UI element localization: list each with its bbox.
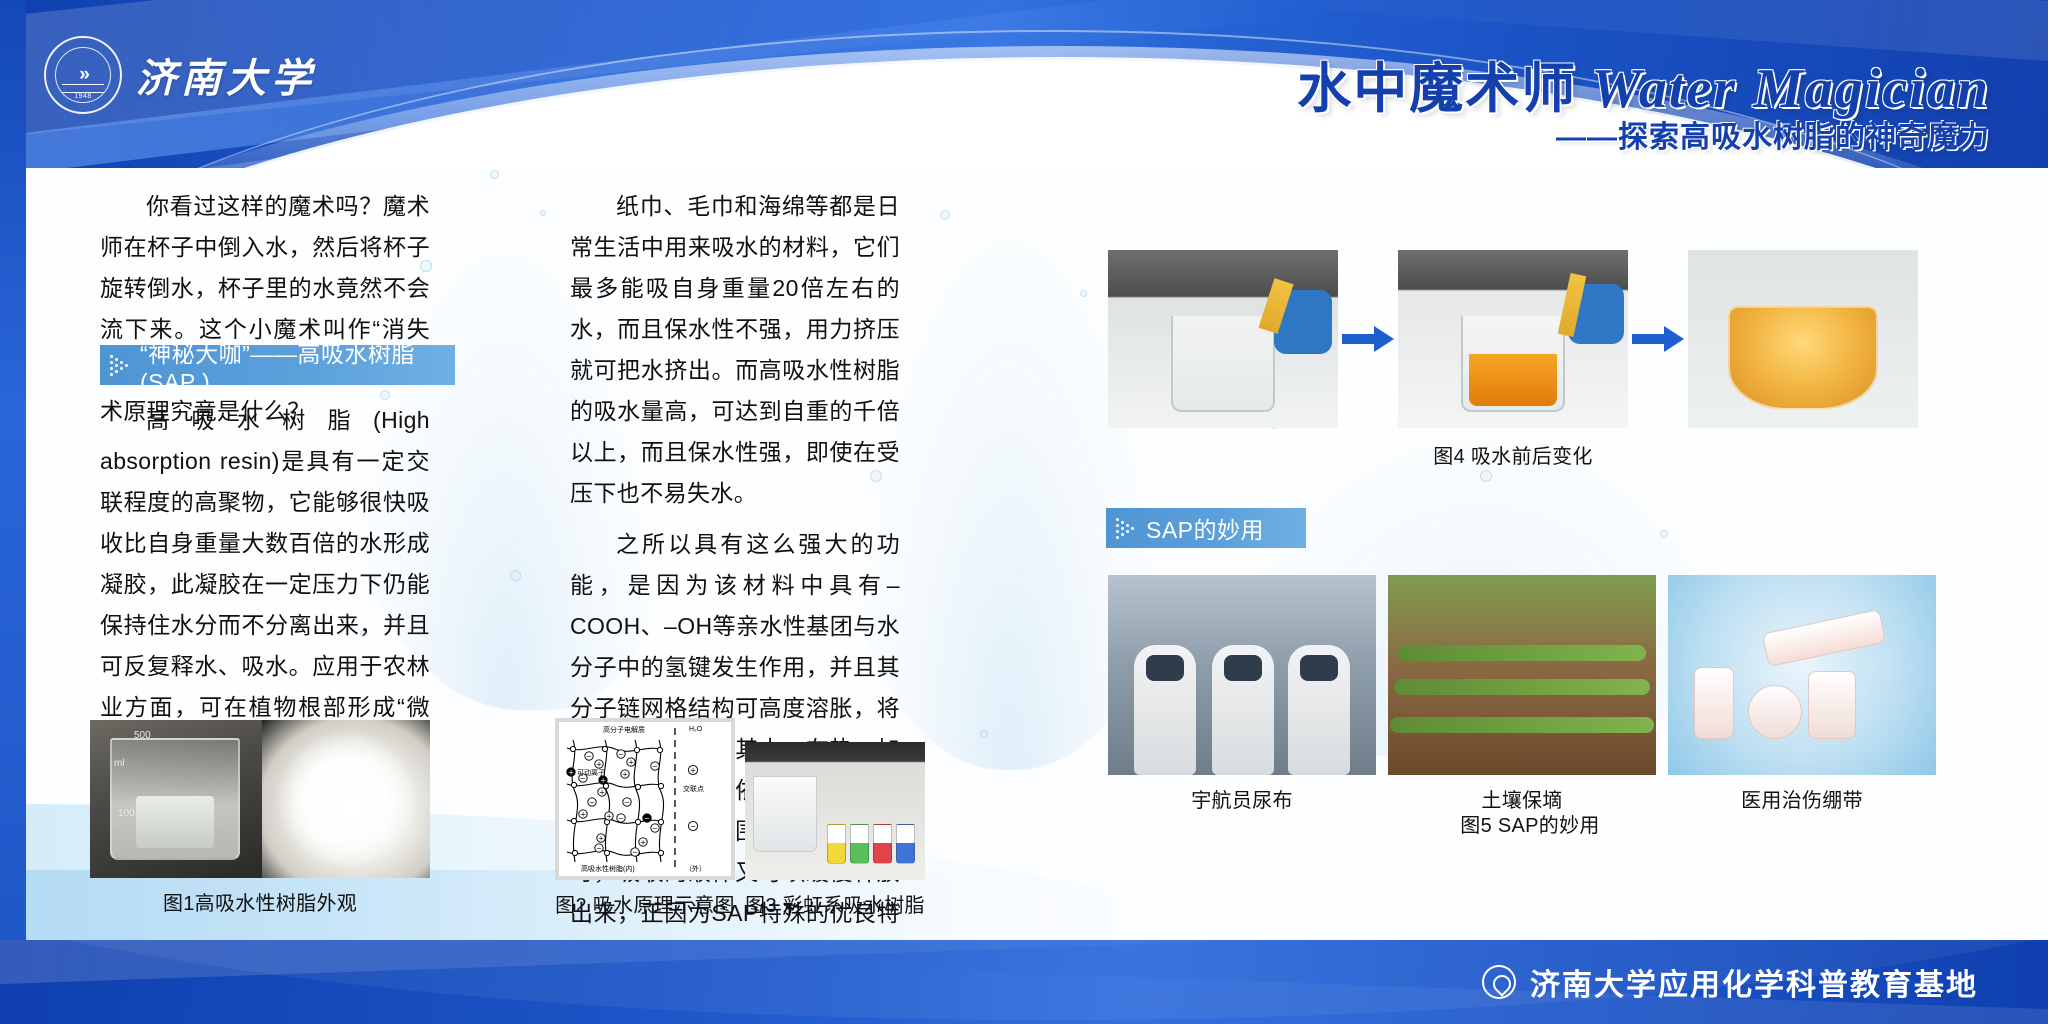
figure-5-item-1: 宇航员尿布 xyxy=(1108,575,1376,813)
left-edge-strip xyxy=(0,0,26,1024)
astronaut-photo xyxy=(1108,575,1376,775)
figure-1-image: 500 ml 100 xyxy=(90,720,430,878)
figure-3-image xyxy=(745,742,925,880)
figure-4-caption: 图4 吸水前后变化 xyxy=(1108,440,1918,469)
section-header-sap: “神秘大咖”——高吸水树脂(SAP ) xyxy=(100,345,455,385)
schematic-label-mobile-ion: 可动离子 xyxy=(577,768,605,778)
svg-text:+: + xyxy=(628,759,634,767)
svg-text:−: − xyxy=(652,825,658,833)
svg-text:−: − xyxy=(652,763,658,771)
svg-text:−: − xyxy=(589,799,595,807)
figure-5-row: 宇航员尿布 土壤保墑 医用治伤绷带 xyxy=(1108,575,1938,813)
figure-4-panel-1 xyxy=(1108,250,1338,428)
figure-3-caption: 图3 彩虹系吸水树脂 xyxy=(745,889,925,918)
section-header-label: “神秘大咖”——高吸水树脂(SAP ) xyxy=(140,335,441,396)
figure-1-caption: 图1高吸水性树脂外观 xyxy=(90,887,430,916)
svg-text:−: − xyxy=(596,845,602,853)
svg-text:−: − xyxy=(644,815,650,823)
water-drop-icon xyxy=(1482,965,1516,999)
svg-text:+: + xyxy=(690,766,696,775)
figure-4-panel-2 xyxy=(1398,250,1628,428)
figure-2: − − + + − + − + + + − − + xyxy=(555,718,735,918)
schematic-label-outside: （外） xyxy=(685,864,706,874)
paragraph-absorbent-materials: 纸巾、毛巾和海绵等都是日常生活中用来吸水的材料，它们最多能吸自身重量20倍左右的… xyxy=(570,186,900,514)
figure-1: 500 ml 100 图1高吸水性树脂外观 xyxy=(90,720,430,916)
figure-5-caption-3: 医用治伤绷带 xyxy=(1668,784,1936,813)
dot-arrow-icon xyxy=(110,352,130,378)
figure-5-caption: 图5 SAP的妙用 xyxy=(1380,809,1680,838)
section-header-uses-label: SAP的妙用 xyxy=(1146,511,1264,545)
schematic-label-resin-inside: 高吸水性树脂(内) xyxy=(581,864,635,874)
schematic-label-crosslink: 交联点 xyxy=(683,784,704,794)
section-header-sap-uses: SAP的妙用 xyxy=(1106,508,1306,548)
poster-canvas: » 1948 济南大学 水中魔术师Water Magician ——探索高吸水树… xyxy=(0,0,2048,1024)
svg-text:−: − xyxy=(632,849,638,857)
bandage-photo xyxy=(1668,575,1936,775)
svg-text:+: + xyxy=(599,789,605,797)
process-arrow-1-icon xyxy=(1338,250,1398,428)
svg-text:−: − xyxy=(586,753,592,761)
footer-text: 济南大学应用化学科普教育基地 xyxy=(1530,960,1978,1004)
svg-text:−: − xyxy=(618,815,624,823)
university-logo: » 1948 济南大学 xyxy=(44,32,374,118)
figure-5-item-2: 土壤保墑 xyxy=(1388,575,1656,813)
svg-text:+: + xyxy=(580,811,586,819)
footer-band: 济南大学应用化学科普教育基地 xyxy=(0,940,2048,1024)
title-english: Water Magician xyxy=(1591,58,1990,120)
soil-field-photo xyxy=(1388,575,1656,775)
page-subtitle: ——探索高吸水树脂的神奇魔力 xyxy=(1556,112,1990,156)
figure-5-caption-1: 宇航员尿布 xyxy=(1108,784,1376,813)
svg-text:−: − xyxy=(690,822,696,831)
svg-text:+: + xyxy=(606,813,612,821)
seal-year: 1948 xyxy=(46,93,120,100)
process-arrow-2-icon xyxy=(1628,250,1688,428)
dot-arrow-icon xyxy=(1116,515,1136,541)
university-seal-icon: » 1948 xyxy=(44,36,122,114)
schematic-label-h2o: H₂O xyxy=(689,726,702,733)
figure-4-panel-3 xyxy=(1688,250,1918,428)
svg-text:+: + xyxy=(598,835,604,843)
figure-2-image: − − + + − + − + + + − − + xyxy=(555,718,735,880)
svg-text:+: + xyxy=(622,771,628,779)
university-name: 济南大学 xyxy=(136,46,316,104)
figure-3: 图3 彩虹系吸水树脂 xyxy=(745,742,925,918)
title-chinese: 水中魔术师 xyxy=(1297,59,1577,119)
svg-text:+: + xyxy=(568,769,574,777)
absorption-schematic-svg: − − + + − + − + + + − − + xyxy=(559,722,731,876)
svg-text:−: − xyxy=(618,751,624,759)
schematic-label-polymer-electrolyte: 高分子电解质 xyxy=(603,725,645,735)
figure-4: 图4 吸水前后变化 xyxy=(1108,250,1918,469)
figure-5-item-3: 医用治伤绷带 xyxy=(1668,575,1936,813)
figure-2-caption: 图2 吸水原理示意图 xyxy=(555,889,735,918)
svg-text:−: − xyxy=(624,799,630,807)
svg-text:+: + xyxy=(640,839,646,847)
